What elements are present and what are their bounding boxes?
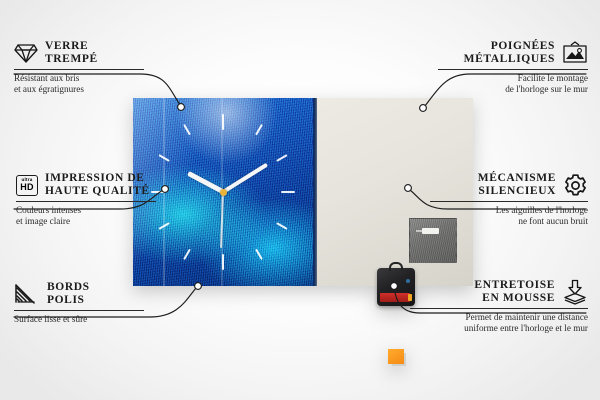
- clock-center-cap: [220, 189, 227, 196]
- callout-title-line2: EN MOUSSE: [474, 292, 555, 305]
- clock-tick: [222, 114, 224, 130]
- callout-desc-line2: ne font aucun bruit: [430, 216, 588, 227]
- callout-header: ultra HD IMPRESSION DE HAUTE QUALITÉ: [16, 172, 156, 198]
- clock-second-hand: [220, 192, 224, 248]
- callout-title-line2: HAUTE QUALITÉ: [45, 185, 150, 198]
- gear-icon: [563, 173, 588, 198]
- movement-hanging-loop: [389, 262, 403, 271]
- clock-tick: [158, 222, 169, 230]
- callout-title-line1: MÉCANISME: [478, 172, 556, 185]
- callout-desc-line1: Permet de maintenir une distance: [410, 312, 588, 323]
- clock-tick: [276, 154, 287, 162]
- clock-minute-hand: [222, 163, 268, 194]
- clock-tick: [158, 154, 169, 162]
- callout-header: ENTRETOISE EN MOUSSE: [410, 279, 588, 305]
- callout-title-line2: MÉTALLIQUES: [464, 53, 555, 66]
- callout-rule: [430, 201, 588, 202]
- ultra-hd-icon-bottom-text: HD: [20, 183, 33, 192]
- clock-dial: [133, 98, 313, 286]
- clock-tick: [255, 124, 263, 135]
- clock-tick: [222, 254, 224, 270]
- callout-header: MÉCANISME SILENCIEUX: [430, 172, 588, 198]
- polished-edge-icon: [14, 283, 40, 305]
- callout-desc-line1: Facilite le montage: [438, 73, 588, 84]
- callout-rule: [410, 308, 588, 309]
- callout-title-line1: VERRE: [45, 40, 98, 53]
- callout-title-line1: ENTRETOISE: [474, 279, 555, 292]
- framed-picture-icon: [562, 41, 588, 65]
- callout-header: VERRE TREMPÉ: [14, 40, 144, 66]
- callout-desc-line1: Résistant aux bris: [14, 73, 144, 84]
- callout-title-line1: BORDS: [47, 281, 90, 294]
- callout-poignees-metalliques: POIGNÉES MÉTALLIQUES Facilite le montage…: [438, 40, 588, 95]
- callout-desc-line1: Surface lisse et sûre: [14, 314, 144, 325]
- foam-spacer-icon: [562, 279, 588, 305]
- callout-header: POIGNÉES MÉTALLIQUES: [438, 40, 588, 66]
- callout-bords-polis: BORDS POLIS Surface lisse et sûre: [14, 281, 144, 325]
- callout-title-line2: SILENCIEUX: [478, 185, 556, 198]
- callout-entretoise-en-mousse: ENTRETOISE EN MOUSSE Permet de maintenir…: [410, 279, 588, 334]
- infographic-stage: VERRE TREMPÉ Résistant aux bris et aux é…: [0, 0, 600, 400]
- callout-rule: [16, 201, 156, 202]
- callout-desc-line2: et aux égratignures: [14, 84, 144, 95]
- foam-spacer: [388, 349, 404, 364]
- callout-desc-line2: uniforme entre l'horloge et le mur: [410, 323, 588, 334]
- callout-desc-line2: et image claire: [16, 216, 156, 227]
- clock-front-panel: [133, 98, 313, 286]
- diamond-icon: [14, 42, 38, 64]
- callout-desc-line2: de l'horloge sur le mur: [438, 84, 588, 95]
- callout-title-line1: POIGNÉES: [464, 40, 555, 53]
- callout-title-line2: POLIS: [47, 294, 90, 307]
- callout-title-line1: IMPRESSION DE: [45, 172, 150, 185]
- clock-hour-hand: [187, 171, 225, 194]
- callout-header: BORDS POLIS: [14, 281, 144, 307]
- clock-tick: [183, 124, 191, 135]
- callout-impression-haute-qualite: ultra HD IMPRESSION DE HAUTE QUALITÉ Cou…: [16, 172, 156, 227]
- ultra-hd-icon: ultra HD: [16, 175, 38, 196]
- clock-tick: [255, 249, 263, 260]
- callout-rule: [438, 69, 588, 70]
- callout-desc-line1: Les aiguilles de l'horloge: [430, 205, 588, 216]
- clock-tick: [276, 222, 287, 230]
- callout-desc-line1: Couleurs intenses: [16, 205, 156, 216]
- clock-tick: [183, 249, 191, 260]
- callout-mecanisme-silencieux: MÉCANISME SILENCIEUX Les aiguilles de l'…: [430, 172, 588, 227]
- movement-battery: [380, 293, 410, 302]
- clock-tick: [281, 191, 295, 193]
- callout-rule: [14, 310, 144, 311]
- callout-verre-trempe: VERRE TREMPÉ Résistant aux bris et aux é…: [14, 40, 144, 95]
- callout-rule: [14, 69, 144, 70]
- product-photo: [133, 98, 473, 286]
- callout-title-line2: TREMPÉ: [45, 53, 98, 66]
- hanger-slot: [422, 228, 439, 234]
